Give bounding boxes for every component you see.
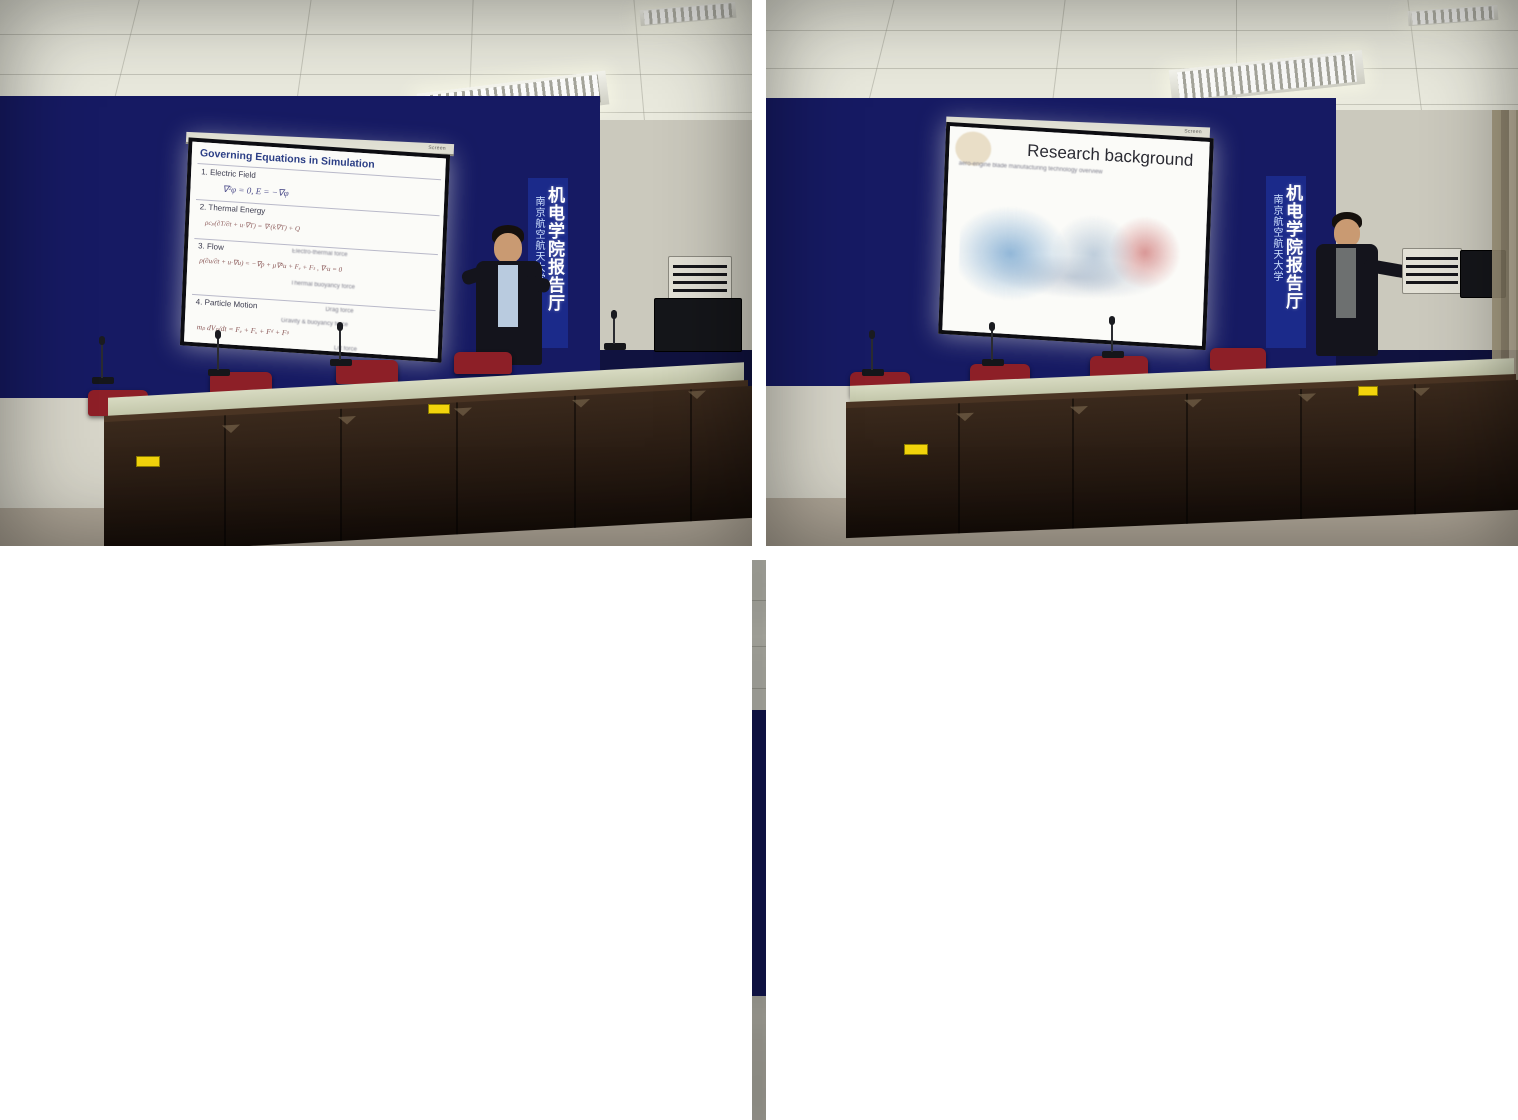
panel-bottom-left: 机电学院报告厅 南京航空航天大学 Screen ECM is an electr… xyxy=(752,560,766,1120)
chair xyxy=(1210,348,1266,370)
desk-chevron xyxy=(1298,393,1316,402)
desk-chevron xyxy=(1412,388,1430,397)
yellow-warning-label xyxy=(1358,386,1378,396)
jet-engine-figure xyxy=(957,179,1194,323)
desk-chevron xyxy=(454,408,472,417)
yellow-warning-label xyxy=(136,456,160,467)
hall-banner: 机电学院报告厅 南京航空航天大学 xyxy=(1266,176,1306,348)
presenter-head xyxy=(494,233,522,263)
panel-top-right: 机电学院报告厅 南京航空航天大学 Screen Research backgro… xyxy=(766,0,1518,546)
slide-section-3: 3. Flow xyxy=(198,241,224,252)
presenter-head xyxy=(1334,219,1360,247)
presenter-shirt xyxy=(1336,248,1356,318)
microphone xyxy=(1102,316,1124,358)
lower-wall xyxy=(752,996,766,1120)
desk-chevron xyxy=(1184,399,1202,408)
microphone xyxy=(208,330,232,376)
desk-chevron xyxy=(338,416,356,425)
banner-line-2: 南京航空航天大学 xyxy=(1269,194,1284,282)
presenter-2-figure xyxy=(1310,212,1406,360)
air-conditioner xyxy=(1402,248,1462,294)
slide-section-4: 4. Particle Motion xyxy=(196,297,258,310)
slide-title: Governing Equations in Simulation xyxy=(200,147,375,171)
collage-gap-horizontal-left xyxy=(752,546,766,560)
slide-annotation-1: Electro-thermal force xyxy=(292,248,348,258)
presenter-shirt xyxy=(498,265,518,327)
yellow-warning-label xyxy=(428,404,450,414)
slide-equation-1: ∇²φ = 0, E = −∇φ xyxy=(222,184,289,199)
yellow-warning-label xyxy=(904,444,928,455)
photo-collage: 机电学院报告厅 南京航空航天大学 Screen Governing Equati… xyxy=(0,0,1518,1120)
collage-gap-vertical-bottom xyxy=(766,560,1518,1120)
microphone xyxy=(604,310,626,350)
slide-annotation-3: Drag force xyxy=(325,307,353,315)
slide-section-2: 2. Thermal Energy xyxy=(200,202,266,215)
slide-annotation-2: Thermal buoyancy force xyxy=(290,280,355,290)
desk-chevron xyxy=(572,399,590,408)
collage-gap-corner xyxy=(0,546,752,560)
desk-chevron xyxy=(956,413,974,422)
presenter-1 xyxy=(462,225,562,365)
projection-screen: Governing Equations in Simulation 1. Ele… xyxy=(180,137,450,362)
desk-chevron xyxy=(1070,406,1088,415)
desk-chevron xyxy=(222,425,240,434)
equipment-rack xyxy=(654,298,742,352)
screen-brand-logo: Screen xyxy=(1184,128,1202,135)
projection-screen: Research background aero-engine blade ma… xyxy=(938,122,1214,350)
microphone xyxy=(92,336,116,384)
desk-chevron xyxy=(688,390,706,399)
chair xyxy=(454,352,512,374)
collage-gap-center xyxy=(766,546,1518,560)
air-conditioner xyxy=(668,256,732,302)
slide-equation-2: ρcₚ(∂T/∂t + u·∇T) = ∇·(k∇T) + Q xyxy=(205,219,300,233)
panel-top-left: 机电学院报告厅 南京航空航天大学 Screen Governing Equati… xyxy=(0,0,752,546)
microphone xyxy=(330,322,354,366)
microphone xyxy=(982,322,1006,366)
microphone xyxy=(862,330,886,376)
screen-brand-logo: Screen xyxy=(428,145,446,152)
collage-gap-horizontal-right xyxy=(0,560,752,1120)
collage-gap-vertical-top xyxy=(752,0,766,546)
slide-section-1: 1. Electric Field xyxy=(201,167,256,180)
slide-equation-3: ρ(∂u/∂t + u·∇u) = −∇p + μ∇²u + Fₑ + Fₜ ,… xyxy=(199,256,342,273)
